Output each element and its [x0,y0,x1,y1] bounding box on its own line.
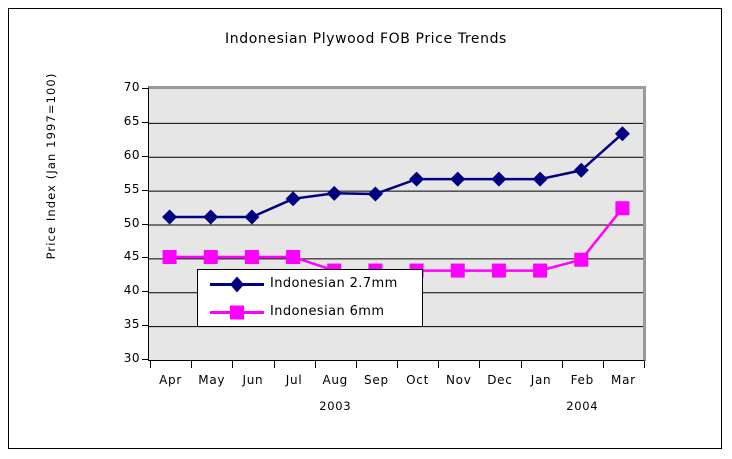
data-point-0 [203,210,218,225]
data-point-1 [574,253,588,267]
y-tick-label: 65 [106,114,140,128]
data-point-1 [533,264,547,278]
series-line-0 [170,134,623,217]
x-tick-mark [274,361,275,368]
y-axis-title: Price Index (Jan 1997=100) [44,36,58,296]
data-point-0 [491,172,506,187]
legend-marker-diamond-icon [208,270,266,299]
data-point-1 [163,250,177,264]
y-tick-label: 60 [106,148,140,162]
y-tick-label: 40 [106,283,140,297]
x-tick-mark [397,361,398,368]
chart-legend: Indonesian 2.7mm Indonesian 6mm [197,269,423,327]
legend-label-1: Indonesian 6mm [270,304,384,319]
y-tick-label: 45 [106,249,140,263]
y-tick-label: 55 [106,182,140,196]
y-tick-label: 30 [106,351,140,365]
data-point-0 [244,210,259,225]
x-tick-mark [232,361,233,368]
y-tick-label: 70 [106,80,140,94]
x-tick-mark [479,361,480,368]
data-point-0 [533,172,548,187]
year-label: 2004 [542,399,622,413]
x-tick-mark [521,361,522,368]
data-point-1 [492,264,506,278]
data-point-1 [451,264,465,278]
x-tick-mark [150,361,151,368]
data-point-1 [204,250,218,264]
legend-item-0[interactable]: Indonesian 2.7mm [198,270,422,299]
x-tick-mark [562,361,563,368]
data-point-1 [615,201,629,215]
data-point-0 [450,172,465,187]
data-point-0 [409,172,424,187]
x-tick-mark [603,361,604,368]
data-point-0 [368,187,383,202]
data-point-1 [245,250,259,264]
y-tick-label: 35 [106,317,140,331]
legend-marker-square-icon [208,298,266,327]
chart-title: Indonesian Plywood FOB Price Trends [9,31,723,47]
data-point-0 [286,191,301,206]
legend-item-1[interactable]: Indonesian 6mm [198,298,422,327]
year-label: 2003 [295,399,375,413]
x-tick-mark [644,361,645,368]
data-point-0 [327,186,342,201]
y-tick-label: 50 [106,216,140,230]
x-tick-mark [191,361,192,368]
x-tick-mark [315,361,316,368]
x-tick-mark [438,361,439,368]
x-tick-label: Mar [597,373,649,387]
chart-frame: Indonesian Plywood FOB Price Trends Pric… [8,8,722,449]
x-tick-mark [356,361,357,368]
legend-label-0: Indonesian 2.7mm [270,276,398,291]
data-point-1 [286,250,300,264]
data-point-0 [162,210,177,225]
